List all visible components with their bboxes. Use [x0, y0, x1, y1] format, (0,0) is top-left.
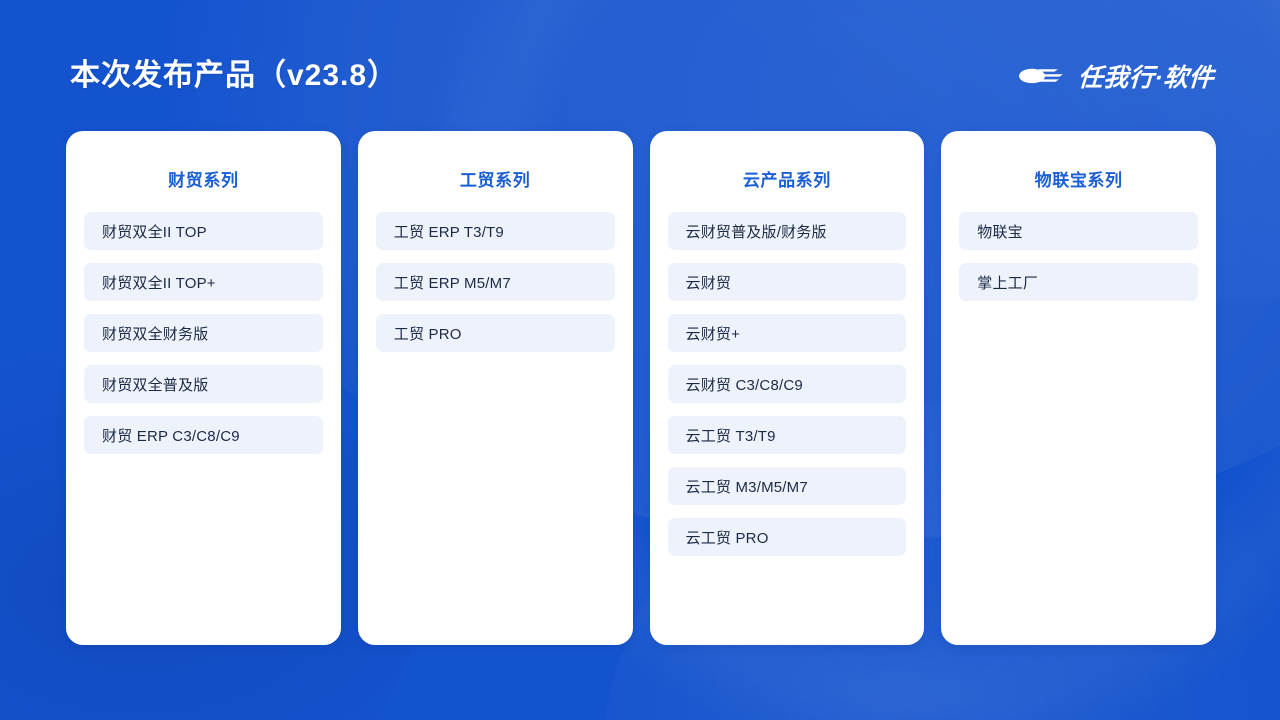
brand-name: 任我行·软件	[1077, 58, 1215, 94]
brand-logo: 任我行·软件	[1018, 58, 1214, 94]
speed-swoosh-icon	[1018, 65, 1066, 87]
product-item[interactable]: 云工贸 T3/T9	[668, 416, 907, 454]
product-item[interactable]: 掌上工厂	[959, 263, 1198, 301]
card-title: 云产品系列	[668, 171, 907, 191]
product-card-gongmao: 工贸系列 工贸 ERP T3/T9 工贸 ERP M5/M7 工贸 PRO	[358, 131, 633, 645]
card-item-list: 物联宝 掌上工厂	[959, 212, 1198, 301]
card-title: 财贸系列	[84, 171, 323, 191]
product-card-wulianbao: 物联宝系列 物联宝 掌上工厂	[941, 131, 1216, 645]
product-item[interactable]: 财贸双全II TOP+	[84, 263, 323, 301]
product-item[interactable]: 云财贸 C3/C8/C9	[668, 365, 907, 403]
product-card-cloud: 云产品系列 云财贸普及版/财务版 云财贸 云财贸+ 云财贸 C3/C8/C9 云…	[650, 131, 925, 645]
card-title: 物联宝系列	[959, 171, 1198, 191]
product-item[interactable]: 财贸双全普及版	[84, 365, 323, 403]
product-card-caimao: 财贸系列 财贸双全II TOP 财贸双全II TOP+ 财贸双全财务版 财贸双全…	[66, 131, 341, 645]
product-item[interactable]: 云工贸 M3/M5/M7	[668, 467, 907, 505]
product-item[interactable]: 财贸 ERP C3/C8/C9	[84, 416, 323, 454]
product-item[interactable]: 财贸双全II TOP	[84, 212, 323, 250]
card-item-list: 云财贸普及版/财务版 云财贸 云财贸+ 云财贸 C3/C8/C9 云工贸 T3/…	[668, 212, 907, 556]
product-item[interactable]: 工贸 PRO	[376, 314, 615, 352]
card-title: 工贸系列	[376, 171, 615, 191]
product-item[interactable]: 云财贸普及版/财务版	[668, 212, 907, 250]
card-item-list: 工贸 ERP T3/T9 工贸 ERP M5/M7 工贸 PRO	[376, 212, 615, 352]
product-item[interactable]: 物联宝	[959, 212, 1198, 250]
page-header: 本次发布产品（v23.8） 任我行·软件	[0, 0, 1280, 128]
product-cards-board: 财贸系列 财贸双全II TOP 财贸双全II TOP+ 财贸双全财务版 财贸双全…	[66, 131, 1216, 645]
product-item[interactable]: 云工贸 PRO	[668, 518, 907, 556]
page-title: 本次发布产品（v23.8）	[70, 50, 398, 94]
card-item-list: 财贸双全II TOP 财贸双全II TOP+ 财贸双全财务版 财贸双全普及版 财…	[84, 212, 323, 454]
product-item[interactable]: 云财贸+	[668, 314, 907, 352]
product-item[interactable]: 工贸 ERP T3/T9	[376, 212, 615, 250]
product-item[interactable]: 云财贸	[668, 263, 907, 301]
product-item[interactable]: 工贸 ERP M5/M7	[376, 263, 615, 301]
product-item[interactable]: 财贸双全财务版	[84, 314, 323, 352]
